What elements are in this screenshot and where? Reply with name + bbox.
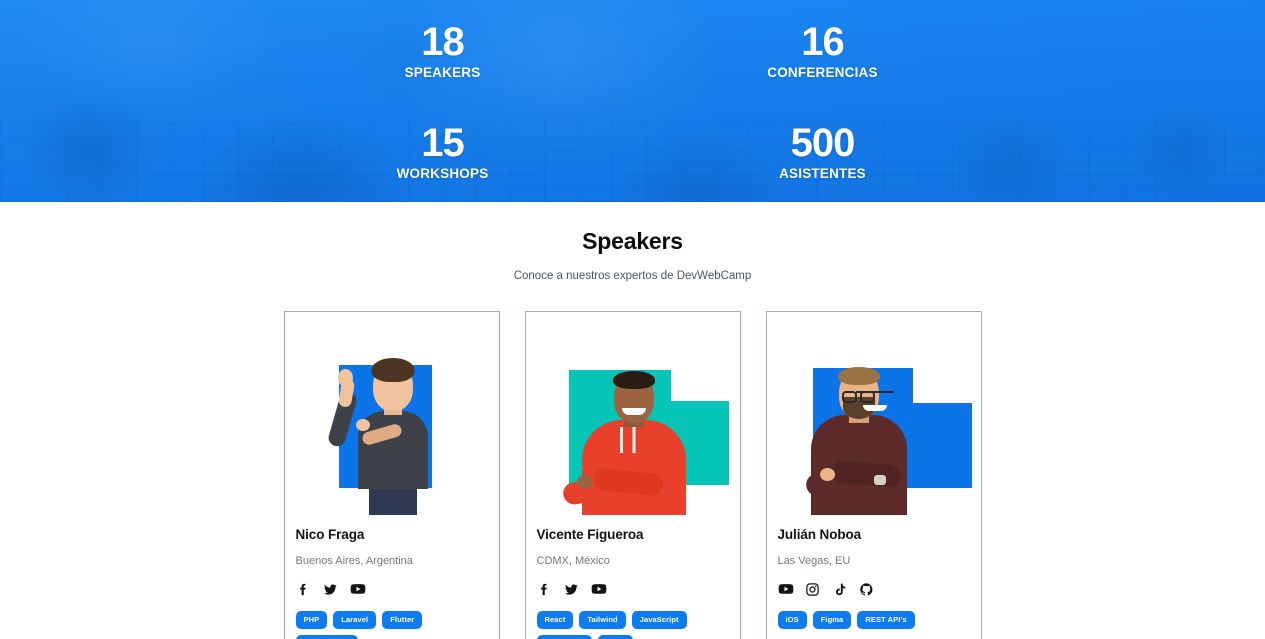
stat-asistentes-label: ASISTENTES <box>779 167 866 181</box>
speaker-name: Nico Fraga <box>296 527 488 542</box>
speaker-illustration <box>537 323 731 515</box>
stat-speakers: 18 SPEAKERS <box>405 22 481 80</box>
speakers-section: Speakers Conoce a nuestros expertos de D… <box>0 202 1265 639</box>
tag[interactable]: Flutter <box>382 611 422 629</box>
tag[interactable]: PHP <box>296 611 328 629</box>
speaker-name: Vicente Figueroa <box>537 527 729 542</box>
speaker-location: CDMX, México <box>537 555 729 567</box>
speaker-photo <box>537 323 731 515</box>
speaker-card[interactable]: Vicente Figueroa CDMX, México React Tail… <box>525 311 741 639</box>
stat-conferencias: 16 CONFERENCIAS <box>767 22 877 80</box>
speaker-tags: PHP Laravel Flutter React Native <box>296 611 488 639</box>
tag[interactable]: React <box>537 611 574 629</box>
stat-workshops: 15 WORKSHOPS <box>397 123 489 181</box>
twitter-icon[interactable] <box>564 581 580 597</box>
speaker-name: Julián Noboa <box>778 527 970 542</box>
speaker-photo <box>296 323 490 515</box>
tag[interactable]: Tailwind <box>579 611 625 629</box>
speaker-location: Buenos Aires, Argentina <box>296 555 488 567</box>
youtube-icon[interactable] <box>778 581 794 597</box>
facebook-icon[interactable] <box>537 581 553 597</box>
github-icon[interactable] <box>859 581 875 597</box>
youtube-icon[interactable] <box>350 581 366 597</box>
tag[interactable]: TypeScript <box>537 635 592 639</box>
speaker-socials <box>537 581 729 597</box>
stat-speakers-number: 18 <box>405 22 481 62</box>
stat-asistentes: 500 ASISTENTES <box>779 123 866 181</box>
speaker-card[interactable]: Julián Noboa Las Vegas, EU <box>766 311 982 639</box>
stat-speakers-label: SPEAKERS <box>405 66 481 80</box>
facebook-icon[interactable] <box>296 581 312 597</box>
speaker-photo <box>778 323 972 515</box>
page-title: Speakers <box>0 228 1265 255</box>
stat-workshops-label: WORKSHOPS <box>397 167 489 181</box>
speakers-card-list: Nico Fraga Buenos Aires, Argentina PHP L… <box>0 311 1265 639</box>
tag[interactable]: Node <box>598 635 633 639</box>
stat-conferencias-label: CONFERENCIAS <box>767 66 877 80</box>
speaker-tags: React Tailwind JavaScript TypeScript Nod… <box>537 611 729 639</box>
stats-grid: 18 SPEAKERS 16 CONFERENCIAS 15 WORKSHOPS… <box>253 0 1013 202</box>
speaker-location: Las Vegas, EU <box>778 555 970 567</box>
speaker-socials <box>296 581 488 597</box>
speaker-tags: iOS Figma REST API's <box>778 611 970 629</box>
speaker-illustration <box>778 323 972 515</box>
tag[interactable]: Laravel <box>333 611 376 629</box>
speaker-socials <box>778 581 970 597</box>
speaker-illustration <box>296 323 490 515</box>
speaker-card[interactable]: Nico Fraga Buenos Aires, Argentina PHP L… <box>284 311 500 639</box>
tag[interactable]: React Native <box>296 635 358 639</box>
instagram-icon[interactable] <box>805 581 821 597</box>
stat-asistentes-number: 500 <box>779 123 866 163</box>
tag[interactable]: Figma <box>813 611 852 629</box>
tag[interactable]: JavaScript <box>632 611 687 629</box>
tiktok-icon[interactable] <box>832 581 848 597</box>
stat-workshops-number: 15 <box>397 123 489 163</box>
section-subtitle: Conoce a nuestros expertos de DevWebCamp <box>0 270 1265 282</box>
tag[interactable]: iOS <box>778 611 807 629</box>
youtube-icon[interactable] <box>591 581 607 597</box>
tag[interactable]: REST API's <box>857 611 914 629</box>
hero-stats-banner: 18 SPEAKERS 16 CONFERENCIAS 15 WORKSHOPS… <box>0 0 1265 202</box>
stat-conferencias-number: 16 <box>767 22 877 62</box>
twitter-icon[interactable] <box>323 581 339 597</box>
